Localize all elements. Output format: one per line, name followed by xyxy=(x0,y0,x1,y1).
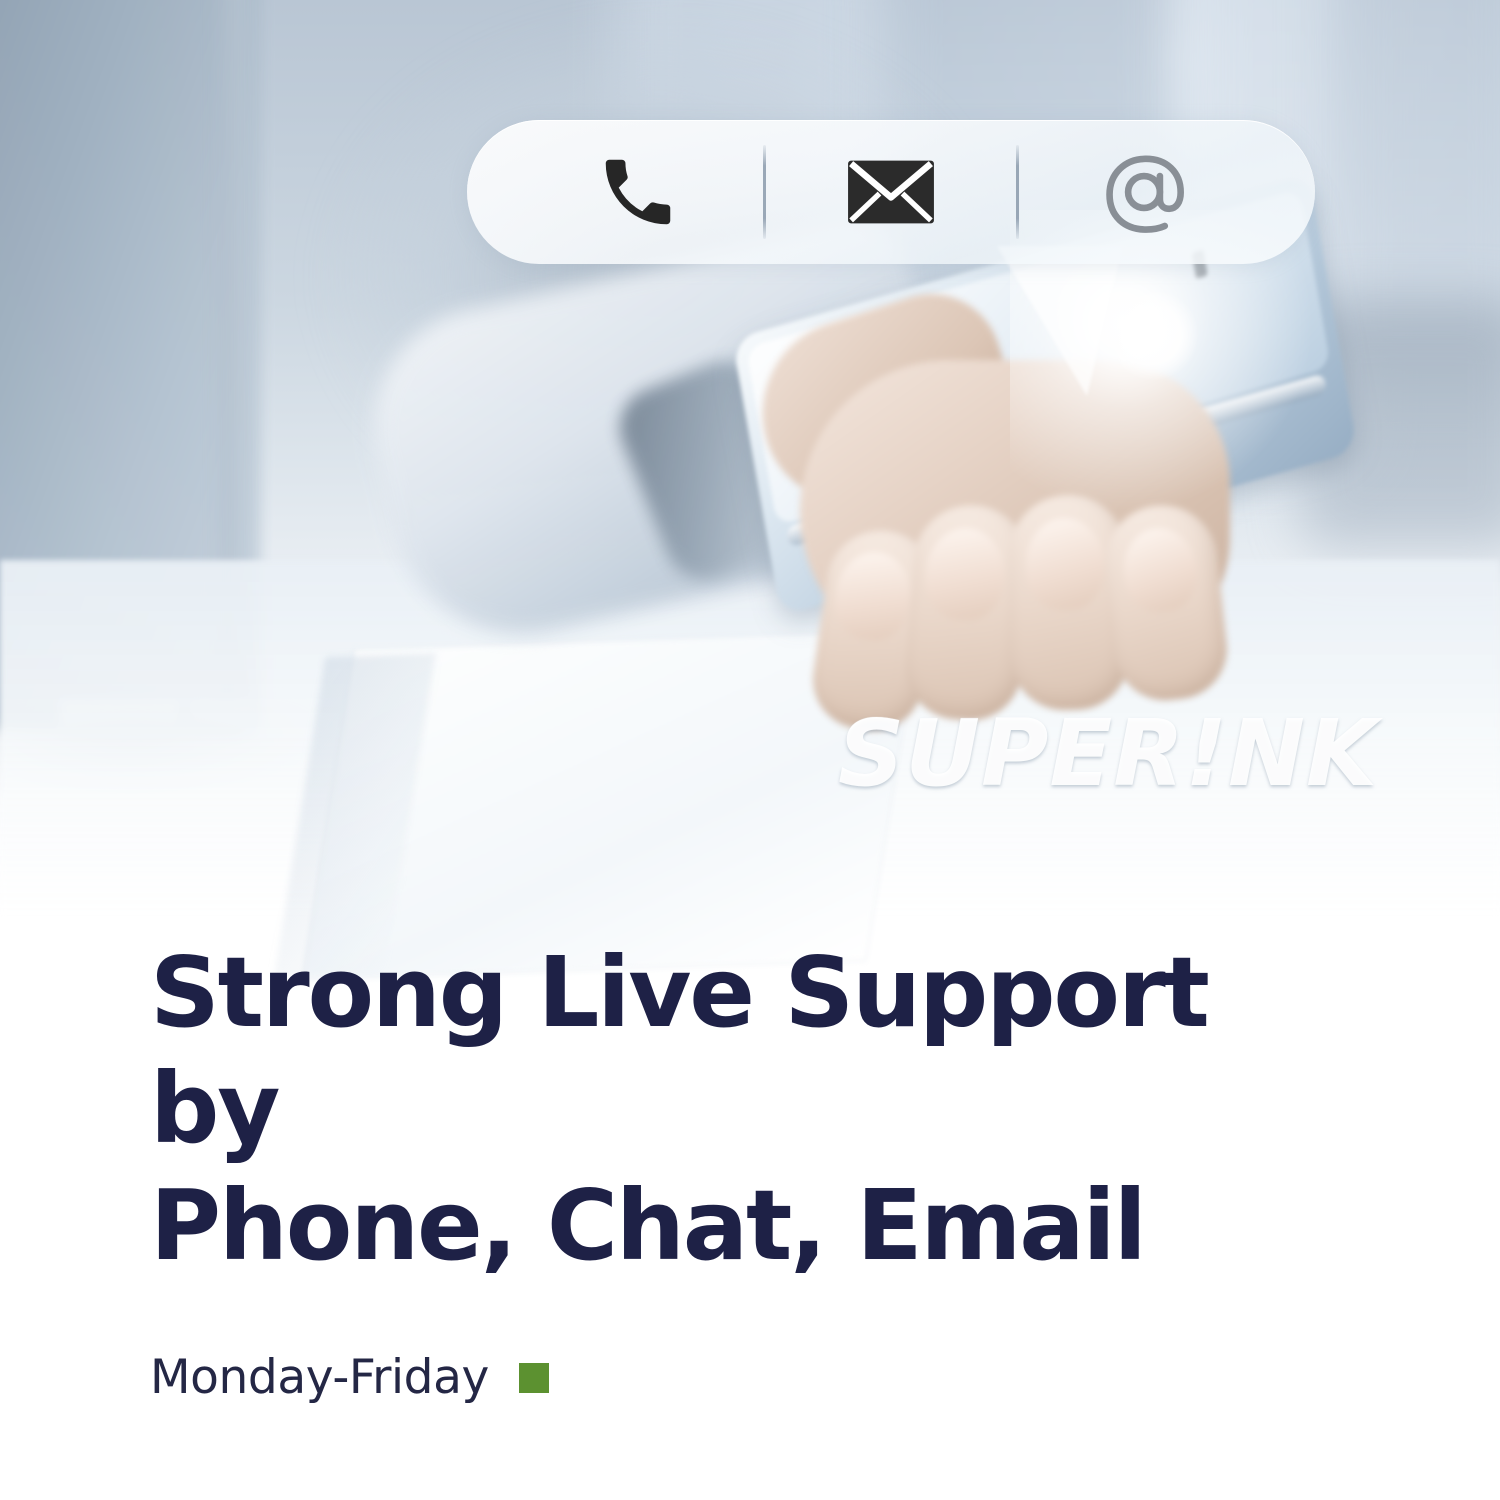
brand-watermark: SUPER!NK xyxy=(838,700,1378,807)
text-block: Strong Live Support by Phone, Chat, Emai… xyxy=(150,935,1350,1405)
availability-label: Monday-Friday xyxy=(150,1350,489,1405)
contact-icon-bar xyxy=(467,120,1315,264)
phone-icon xyxy=(595,149,681,235)
support-banner: SUPER!NK xyxy=(0,0,1500,1500)
contact-option-at[interactable] xyxy=(1019,120,1269,264)
contact-option-phone[interactable] xyxy=(513,120,763,264)
fingernail xyxy=(1025,517,1105,610)
page-title: Strong Live Support by Phone, Chat, Emai… xyxy=(150,935,1350,1284)
envelope-icon xyxy=(845,146,937,238)
contact-option-email[interactable] xyxy=(766,120,1016,264)
accent-square xyxy=(519,1363,549,1393)
contact-bubble xyxy=(467,120,1317,405)
at-sign-icon xyxy=(1091,139,1197,245)
subtitle-row: Monday-Friday xyxy=(150,1350,1350,1405)
speech-bubble-tail xyxy=(997,246,1123,396)
